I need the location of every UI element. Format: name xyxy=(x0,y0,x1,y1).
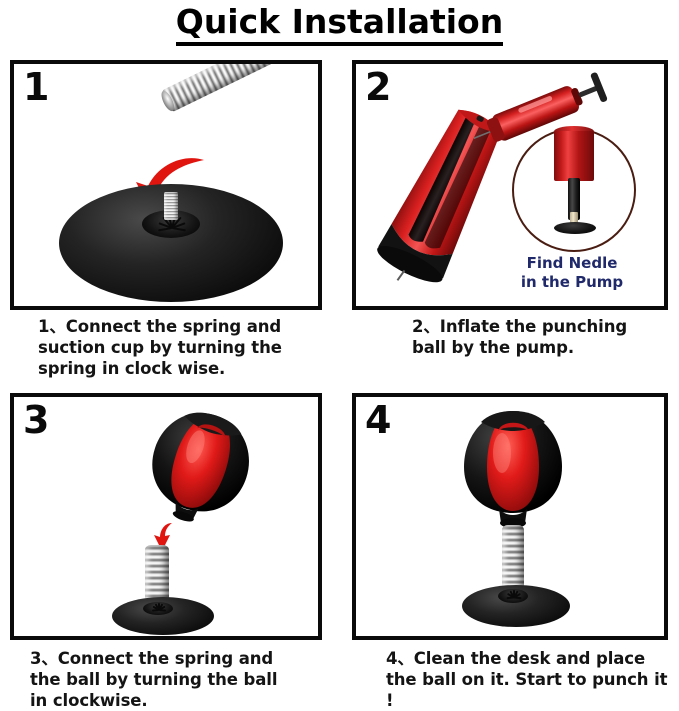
inflated-punching-ball xyxy=(144,409,256,527)
pump-needle-foot xyxy=(554,222,596,234)
step-panel-3: 3 xyxy=(10,393,322,640)
inset-note-text: Find Nedle in the Pump xyxy=(487,254,657,292)
step-number-2: 2 xyxy=(365,66,391,108)
step-caption-4: 4、Clean the desk and place the ball on i… xyxy=(386,648,676,711)
step-caption-3: 3、Connect the spring and the ball by tur… xyxy=(30,648,320,711)
page-title-text: Quick Installation xyxy=(176,4,503,46)
page-title: Quick Installation xyxy=(0,2,679,46)
pump-cylinder xyxy=(554,131,594,181)
base-ribs xyxy=(500,590,526,605)
step-panel-2: 2 xyxy=(352,60,668,310)
step-panel-1: 1 xyxy=(10,60,322,310)
step-caption-2: 2、Inflate the punching ball by the pump. xyxy=(412,316,672,358)
assembled-punching-ball xyxy=(454,407,572,533)
step-number-1: 1 xyxy=(23,66,49,108)
coil-spring-icon xyxy=(159,60,291,118)
step-number-3: 3 xyxy=(23,399,49,441)
base-ribs xyxy=(145,603,171,617)
step-panel-4: 4 xyxy=(352,393,668,640)
metal-stud xyxy=(164,192,178,220)
step-caption-1: 1、Connect the spring and suction cup by … xyxy=(38,316,318,379)
step-number-4: 4 xyxy=(365,399,391,441)
